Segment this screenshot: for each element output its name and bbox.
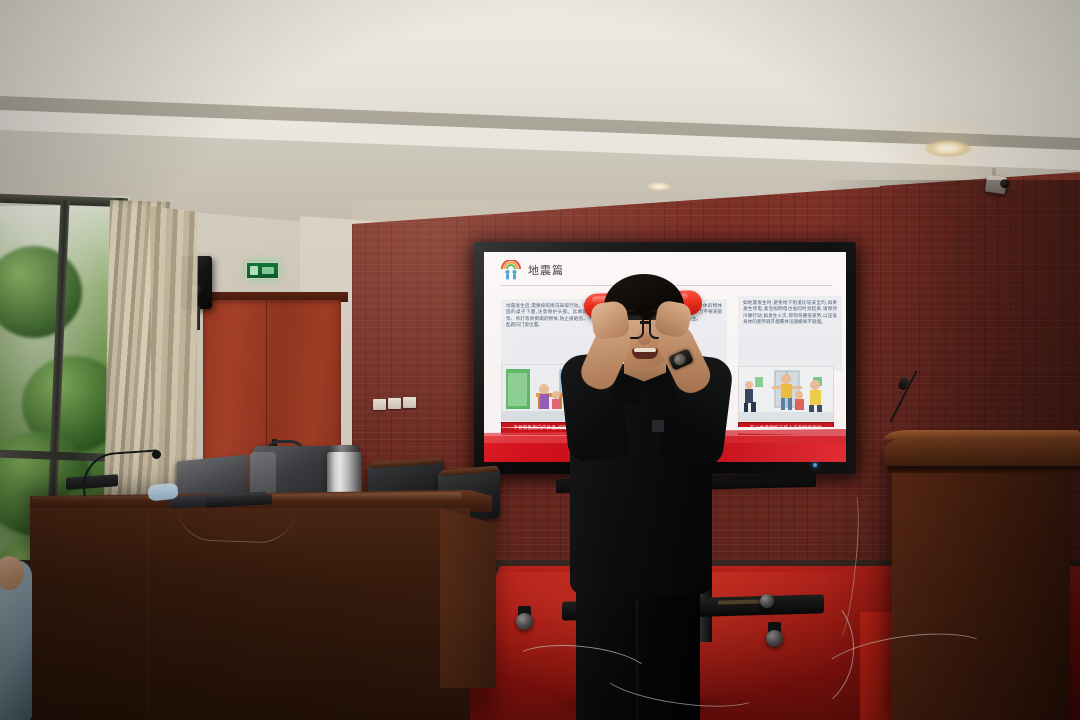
desk-panel-seam bbox=[148, 512, 149, 712]
eyeglass-bridge bbox=[640, 321, 650, 324]
teeth bbox=[634, 348, 656, 352]
exit-door-icon bbox=[262, 267, 274, 274]
nose bbox=[638, 330, 651, 345]
cart-caster-wheel bbox=[516, 613, 533, 630]
conference-desk-side bbox=[440, 508, 496, 688]
exit-running-figure-icon bbox=[250, 266, 258, 275]
foliage bbox=[0, 246, 82, 338]
presenter-left-fist bbox=[590, 300, 631, 341]
family-rainbow-logo-icon bbox=[500, 260, 522, 280]
ceiling-downlight-icon bbox=[646, 182, 672, 191]
ceiling-downlight-icon bbox=[925, 140, 971, 157]
conference-room-photo: 地震篇 地震发生后,需要按照情况采取行动。躲避在坚固的桌子下面,注意保护头部。远… bbox=[0, 0, 1080, 720]
exit-sign-icon bbox=[246, 262, 279, 279]
cctv-camera-icon bbox=[985, 175, 1007, 195]
light-switch-plate[interactable] bbox=[388, 398, 401, 409]
desk-microphone[interactable] bbox=[82, 452, 160, 496]
slide-text-block: 如地震发生时,避免地下街道比较安全的,如果发生停电,紧急照明电也会同时亮起来,请… bbox=[738, 296, 842, 371]
light-switch-plate[interactable] bbox=[373, 399, 386, 410]
display-power-led-icon bbox=[813, 463, 817, 467]
microphone-gooseneck bbox=[81, 449, 160, 496]
light-switch-plate[interactable] bbox=[403, 397, 416, 408]
microphone-capsule-icon bbox=[152, 450, 161, 459]
shirt-logo bbox=[652, 420, 664, 432]
slide-illustration bbox=[738, 366, 834, 421]
